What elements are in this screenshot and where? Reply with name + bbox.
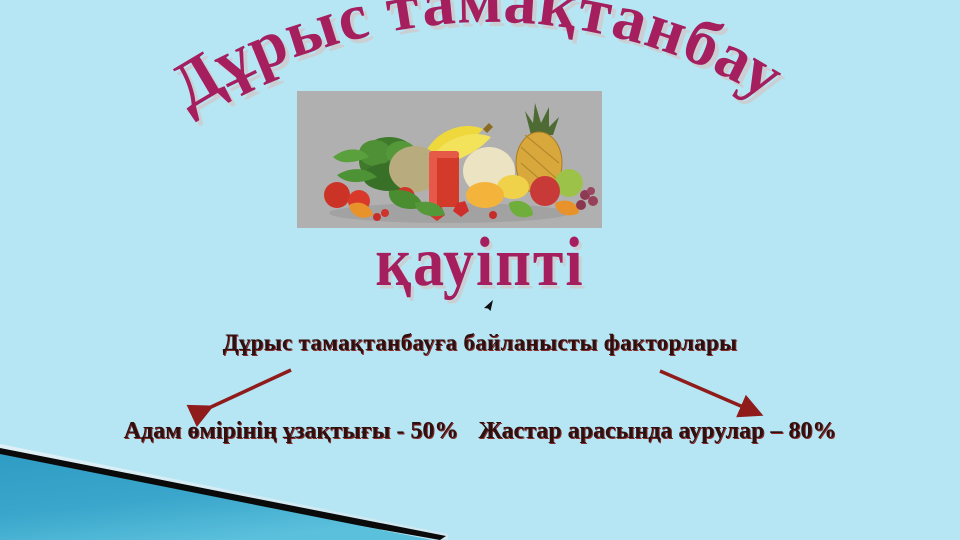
fruits-and-vegetables-photo <box>297 91 602 228</box>
orange-shape <box>466 182 504 208</box>
mouse-pointer-icon <box>481 298 495 312</box>
subtitle-container: қауіпті <box>0 228 960 290</box>
arrow-right <box>660 371 757 413</box>
factors-heading: Дұрыс тамақтанбауға байланысты факторлар… <box>0 330 960 356</box>
arrow-left <box>198 370 291 413</box>
presentation-slide: Дұрыс тамақтанбау Дұрыс тамақтанбау <box>0 0 960 540</box>
tomato-shape <box>324 182 350 208</box>
red-apple-shape <box>530 176 560 206</box>
subtitle-text: қауіпті <box>375 228 584 297</box>
juice-glass-shape <box>429 151 459 207</box>
corner-decoration <box>0 430 960 540</box>
